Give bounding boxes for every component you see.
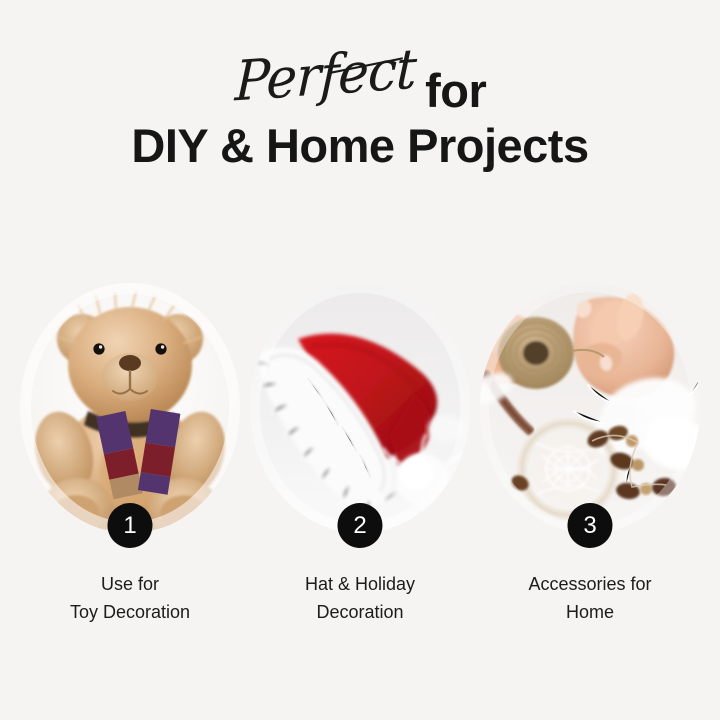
headline-line-1: Perfect for — [0, 52, 720, 114]
santa-hat-photo — [250, 283, 470, 533]
feature-cards-row: 1 Use for Toy Decoration — [0, 283, 720, 627]
card-caption-2: Hat & Holiday Decoration — [250, 571, 470, 627]
feature-card-toy-decoration: 1 Use for Toy Decoration — [20, 283, 240, 627]
caption-line-2: Toy Decoration — [20, 599, 240, 627]
feature-card-hat-decoration: 2 Hat & Holiday Decoration — [250, 283, 470, 627]
page-title: Perfect for DIY & Home Projects — [0, 52, 720, 173]
teddy-bear-photo — [20, 283, 240, 533]
step-badge-1: 1 — [108, 503, 153, 548]
caption-line-2: Home — [480, 599, 700, 627]
caption-line-1: Hat & Holiday — [250, 571, 470, 599]
step-badge-3: 3 — [568, 503, 613, 548]
feature-card-home-accessories: 3 Accessories for Home — [480, 283, 700, 627]
caption-line-2: Decoration — [250, 599, 470, 627]
headline-line-2: DIY & Home Projects — [0, 120, 720, 173]
step-badge-2: 2 — [338, 503, 383, 548]
card-caption-3: Accessories for Home — [480, 571, 700, 627]
headline-script-word: Perfect — [234, 42, 417, 110]
caption-line-1: Accessories for — [480, 571, 700, 599]
headline-bold-word: for — [425, 67, 486, 114]
card-caption-1: Use for Toy Decoration — [20, 571, 240, 627]
caption-line-1: Use for — [20, 571, 240, 599]
dreamcatcher-craft-photo — [480, 283, 700, 533]
